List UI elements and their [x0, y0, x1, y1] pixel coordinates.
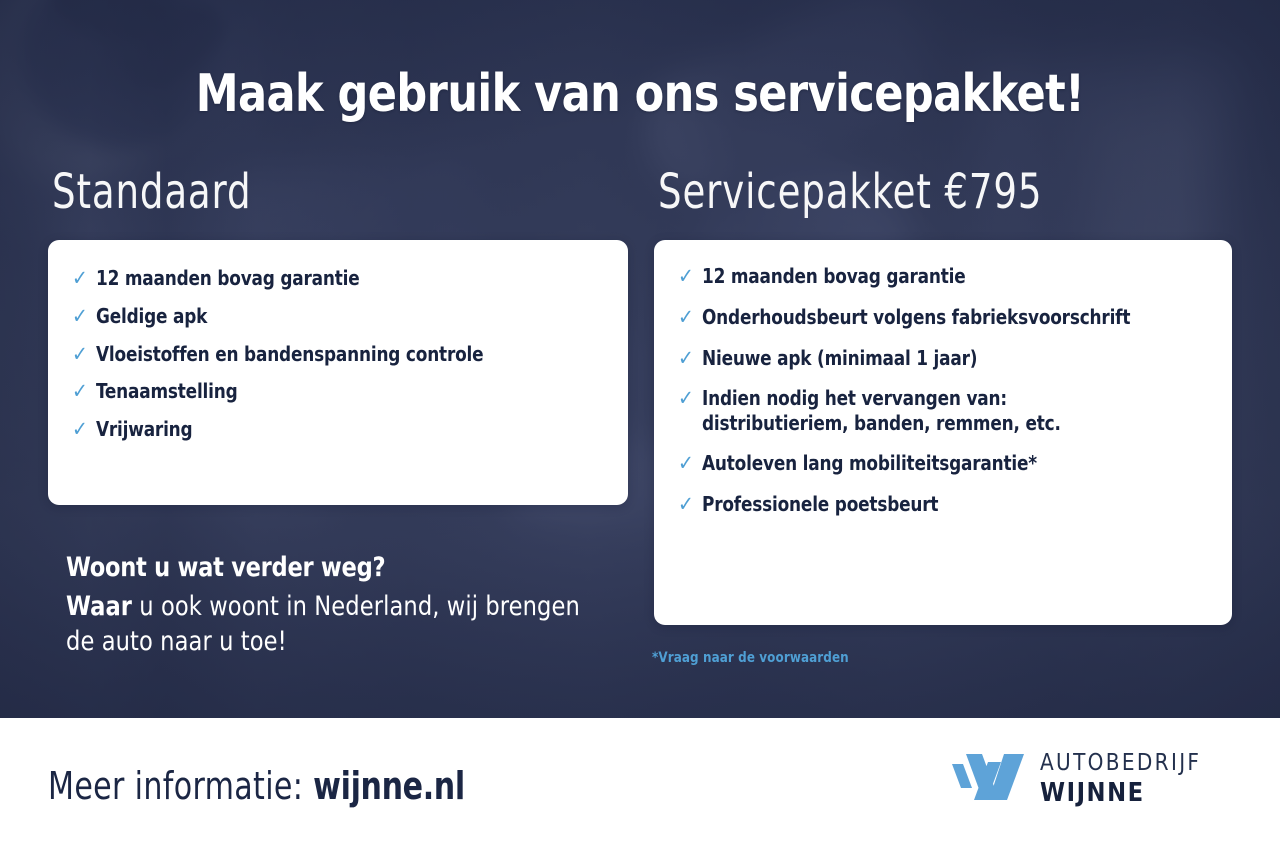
list-item: ✓ 12 maanden bovag garantie: [678, 264, 1232, 289]
list-item: ✓ Professionele poetsbeurt: [678, 492, 1232, 517]
list-item-label: Vloeistoffen en bandenspanning controle: [96, 342, 483, 366]
servicepakket-card: ✓ 12 maanden bovag garantie ✓ Onderhouds…: [654, 240, 1232, 625]
list-item-label: Geldige apk: [96, 304, 207, 328]
servicepakket-feature-list: ✓ 12 maanden bovag garantie ✓ Onderhouds…: [654, 240, 1232, 517]
list-item-label: Indien nodig het vervangen van: distribu…: [702, 386, 1061, 435]
list-item-label: Tenaamstelling: [96, 379, 238, 403]
logo-line-autobedrijf: AUTOBEDRIJF: [1040, 752, 1201, 775]
delivery-headline: Woont u wat verder weg?: [66, 550, 587, 585]
check-icon: ✓: [72, 266, 88, 291]
list-item: ✓ Indien nodig het vervangen van: distri…: [678, 386, 1232, 435]
logo-line-wijnne: WIJNNE: [1040, 780, 1201, 806]
list-item-label: Professionele poetsbeurt: [702, 492, 938, 516]
list-item: ✓ 12 maanden bovag garantie: [72, 266, 628, 291]
check-icon: ✓: [678, 492, 694, 517]
check-icon: ✓: [72, 304, 88, 329]
wijnne-w-logomark: [952, 754, 1024, 805]
list-item-label: Autoleven lang mobiliteitsgarantie*: [702, 451, 1037, 475]
check-icon: ✓: [72, 379, 88, 404]
delivery-body-emphasis: Waar: [66, 591, 132, 622]
delivery-copy-block: Woont u wat verder weg? Waar u ook woont…: [66, 550, 626, 659]
check-icon: ✓: [678, 305, 694, 330]
conditions-footnote: *Vraag naar de voorwaarden: [652, 650, 849, 666]
list-item: ✓ Vrijwaring: [72, 417, 628, 442]
list-item: ✓ Autoleven lang mobiliteitsgarantie*: [678, 451, 1232, 476]
column-heading-servicepakket: Servicepakket €795: [658, 164, 1042, 220]
more-info-line: Meer informatie: wijnne.nl: [48, 764, 465, 808]
standaard-feature-list: ✓ 12 maanden bovag garantie ✓ Geldige ap…: [48, 240, 628, 442]
poster-title: Maak gebruik van ons servicepakket!: [51, 64, 1229, 124]
list-item: ✓ Geldige apk: [72, 304, 628, 329]
list-item: ✓ Vloeistoffen en bandenspanning control…: [72, 342, 628, 367]
list-item-label: 12 maanden bovag garantie: [702, 264, 966, 288]
logo-wordmark: AUTOBEDRIJF WIJNNE: [1040, 752, 1206, 806]
company-logo[interactable]: AUTOBEDRIJF WIJNNE: [952, 752, 1206, 806]
column-heading-standaard: Standaard: [52, 164, 251, 220]
check-icon: ✓: [678, 264, 694, 289]
check-icon: ✓: [678, 386, 694, 411]
website-url[interactable]: wijnne.nl: [313, 764, 465, 808]
list-item-label: 12 maanden bovag garantie: [96, 266, 360, 290]
check-icon: ✓: [678, 346, 694, 371]
list-item-label: Nieuwe apk (minimaal 1 jaar): [702, 346, 977, 370]
check-icon: ✓: [678, 451, 694, 476]
list-item: ✓ Nieuwe apk (minimaal 1 jaar): [678, 346, 1232, 371]
list-item: ✓ Tenaamstelling: [72, 379, 628, 404]
list-item-label: Vrijwaring: [96, 417, 192, 441]
check-icon: ✓: [72, 342, 88, 367]
check-icon: ✓: [72, 417, 88, 442]
list-item-label: Onderhoudsbeurt volgens fabrieksvoorschr…: [702, 305, 1130, 329]
more-info-label: Meer informatie:: [48, 764, 313, 808]
delivery-body: Waar u ook woont in Nederland, wij breng…: [66, 589, 587, 659]
delivery-body-rest: u ook woont in Nederland, wij brengen de…: [66, 591, 580, 657]
standaard-card: ✓ 12 maanden bovag garantie ✓ Geldige ap…: [48, 240, 628, 505]
service-package-poster: Maak gebruik van ons servicepakket! Stan…: [0, 0, 1280, 853]
list-item: ✓ Onderhoudsbeurt volgens fabrieksvoorsc…: [678, 305, 1232, 330]
